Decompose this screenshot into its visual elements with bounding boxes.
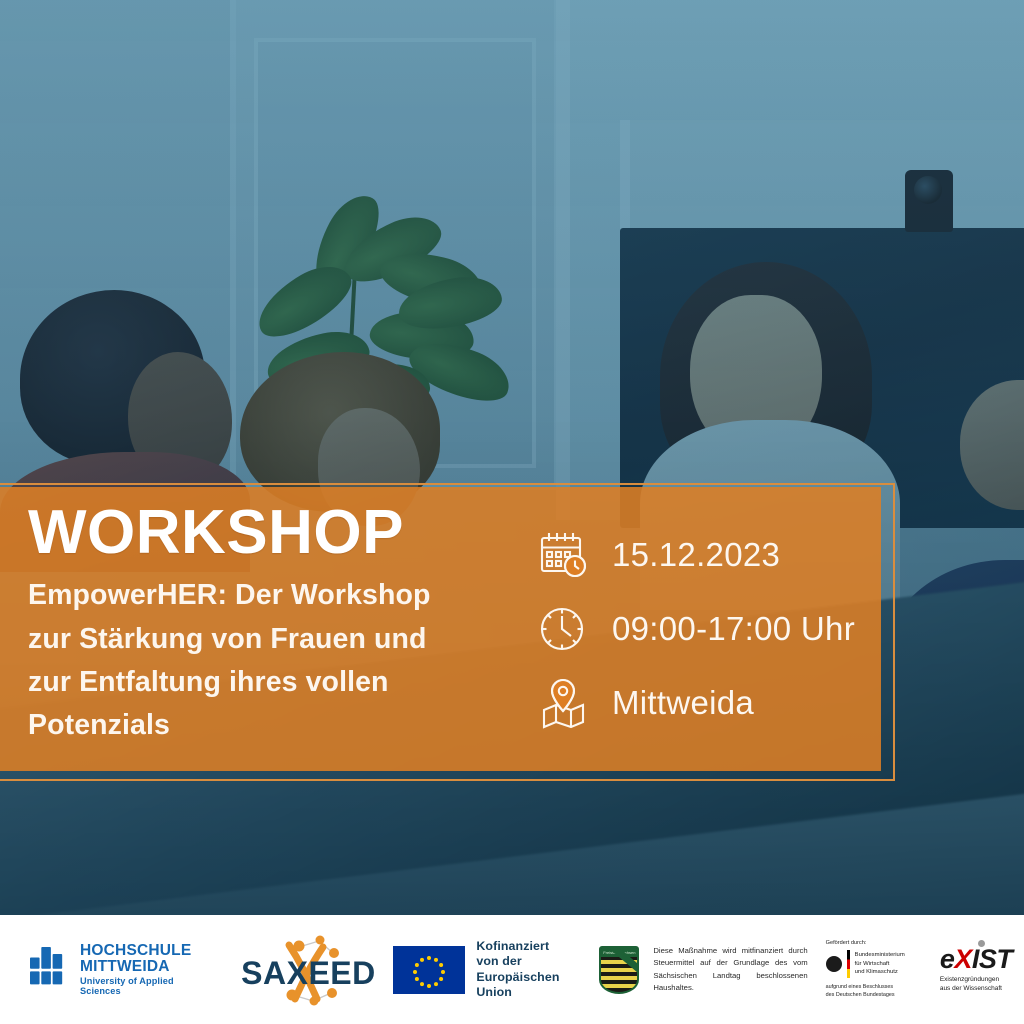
logo-exist: eXIST Existenzgründungen aus der Wissens… bbox=[940, 946, 1024, 994]
bmwk-bottom-line-1: aufgrund eines Beschlusses bbox=[826, 984, 924, 992]
eu-line-2: Europäischen Union bbox=[476, 970, 573, 1000]
banner-text-block: WORKSHOP EmpowerHER: Der Workshop zur St… bbox=[0, 487, 520, 747]
exist-word-x: X bbox=[954, 944, 972, 974]
event-time-value: 09:00-17:00 Uhr bbox=[612, 610, 855, 648]
hochschule-mittweida-mark-icon bbox=[30, 947, 70, 993]
sachsen-crest-icon: Freistaat Sachsen bbox=[599, 946, 639, 994]
event-subtitle-line-2: zur Stärkung von Frauen und bbox=[28, 618, 520, 661]
logo-hochschule-mittweida: HOCHSCHULE MITTWEIDA University of Appli… bbox=[30, 943, 199, 996]
hsm-line-3: University of Applied Sciences bbox=[80, 977, 199, 996]
clock-icon bbox=[538, 603, 590, 655]
logo-freistaat-sachsen: Freistaat Sachsen bbox=[599, 946, 639, 994]
bmwk-beschluss-note: aufgrund eines Beschlusses des Deutschen… bbox=[826, 984, 924, 999]
duotone-overlay-secondary bbox=[0, 0, 1024, 915]
event-subtitle: EmpowerHER: Der Workshop zur Stärkung vo… bbox=[28, 574, 520, 747]
map-pin-icon bbox=[538, 677, 590, 729]
exist-word-a: e bbox=[940, 944, 955, 974]
event-details-block: 15.12.2023 bbox=[520, 487, 855, 729]
event-date-value: 15.12.2023 bbox=[612, 536, 780, 574]
event-subtitle-line-1: EmpowerHER: Der Workshop bbox=[28, 574, 520, 617]
logo-bmwk: Gefördert durch: Bundesministerium für W… bbox=[826, 940, 924, 999]
calendar-clock-icon bbox=[538, 529, 590, 581]
background-photo bbox=[0, 0, 1024, 915]
exist-dot-icon bbox=[978, 940, 985, 947]
event-location-row: Mittweida bbox=[538, 677, 855, 729]
bmwk-line-2: für Wirtschaft bbox=[855, 960, 905, 968]
exist-wordmark: eXIST bbox=[940, 946, 1024, 973]
sponsor-logo-bar: HOCHSCHULE MITTWEIDA University of Appli… bbox=[0, 915, 1024, 1024]
sachsen-funding-note: Diese Maßnahme wird mitfinanziert durch … bbox=[653, 945, 807, 995]
logo-eu-cofinanced: Kofinanziert von der Europäischen Union bbox=[393, 939, 573, 1000]
logo-saxeed: SAXEED bbox=[241, 933, 353, 1007]
bmwk-wordmark: Bundesministerium für Wirtschaft und Kli… bbox=[855, 951, 905, 976]
event-time-row: 09:00-17:00 Uhr bbox=[538, 603, 855, 655]
hsm-line-1: HOCHSCHULE bbox=[80, 943, 199, 959]
saxeed-wordmark: SAXEED bbox=[241, 955, 376, 992]
exist-tagline-line-2: aus der Wissenschaft bbox=[940, 985, 1024, 994]
poster-canvas: WORKSHOP EmpowerHER: Der Workshop zur St… bbox=[0, 0, 1024, 1024]
event-banner: WORKSHOP EmpowerHER: Der Workshop zur St… bbox=[0, 487, 881, 771]
event-subtitle-line-4: Potenzials bbox=[28, 704, 520, 747]
eu-flag-icon bbox=[393, 946, 465, 994]
bmwk-line-3: und Klimaschutz bbox=[855, 968, 905, 976]
eu-line-1: Kofinanziert von der bbox=[476, 939, 573, 969]
hsm-line-2: MITTWEIDA bbox=[80, 959, 199, 975]
page-title: WORKSHOP bbox=[28, 501, 520, 564]
bundesadler-icon bbox=[826, 956, 842, 972]
bmwk-gefoerdert-label: Gefördert durch: bbox=[826, 940, 924, 946]
exist-word-b: IST bbox=[972, 944, 1013, 974]
bmwk-bottom-line-2: des Deutschen Bundestages bbox=[826, 992, 924, 1000]
hochschule-mittweida-wordmark: HOCHSCHULE MITTWEIDA University of Appli… bbox=[80, 943, 199, 996]
bmwk-line-1: Bundesministerium bbox=[855, 951, 905, 959]
event-subtitle-line-3: zur Entfaltung ihres vollen bbox=[28, 661, 520, 704]
event-date-row: 15.12.2023 bbox=[538, 529, 855, 581]
event-location-value: Mittweida bbox=[612, 684, 754, 722]
eu-cofinanced-text: Kofinanziert von der Europäischen Union bbox=[476, 939, 573, 1000]
german-flag-bar-icon bbox=[847, 950, 850, 978]
exist-tagline-line-1: Existenzgründungen bbox=[940, 976, 1024, 985]
exist-tagline: Existenzgründungen aus der Wissenschaft bbox=[940, 976, 1024, 994]
